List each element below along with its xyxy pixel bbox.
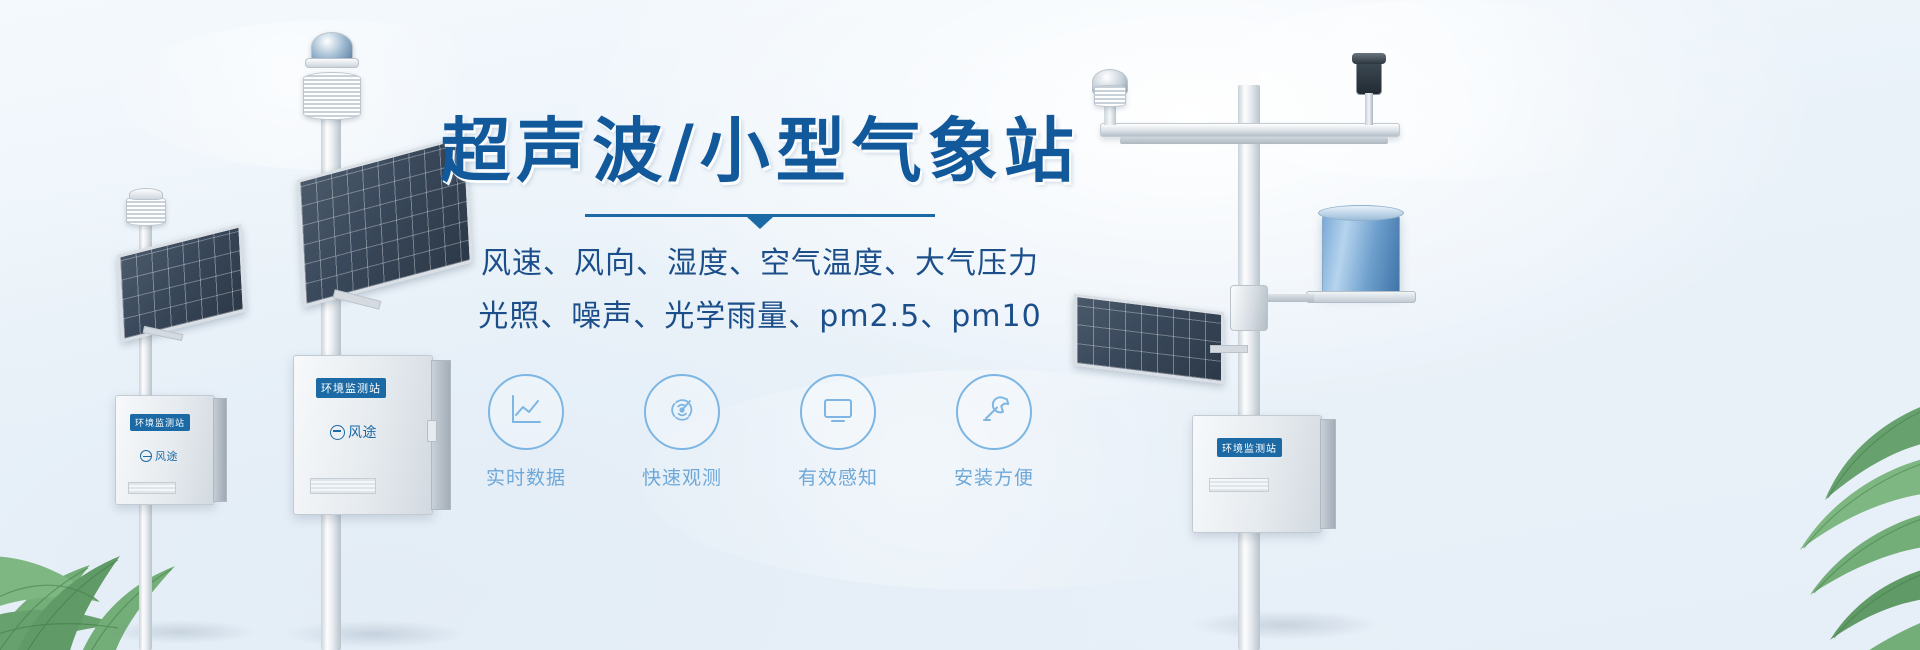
radiation-shield-sensor [303,72,361,120]
cabinet-vent [310,478,376,494]
radiation-shield-sensor [1094,85,1126,107]
equipment-cabinet: 环境监测站 风途 [115,395,215,505]
brand-name: 风途 [155,448,178,464]
feature-list: 实时数据 [440,374,1080,490]
cross-arm [1100,123,1400,137]
rain-gauge-base [1306,291,1416,303]
wrench-icon [974,390,1014,435]
feature-icon-circle [644,374,720,450]
shield-cap [129,188,163,200]
brand-mark-icon [140,450,152,462]
feature-icon-circle [488,374,564,450]
brand-logo: 风途 [140,448,178,464]
sensor-collar [305,58,359,68]
feature-label: 快速观测 [627,463,737,490]
feature-item-fast-observation[interactable]: 快速观测 [627,374,737,490]
feature-label: 有效感知 [783,463,893,490]
brand-mark-icon [330,425,345,440]
station-shadow [1190,610,1380,640]
brand-logo: 风途 [330,422,377,442]
cabinet-vent [128,482,176,494]
cabinet-side-panel [1320,419,1336,529]
subtitle-line-1: 风速、风向、湿度、空气温度、大气压力 [440,241,1080,288]
feature-label: 安装方便 [939,463,1049,490]
rain-gauge-rim [1318,205,1404,221]
station-mast [1238,85,1260,650]
equipment-cabinet: 环境监测站 [1192,415,1322,533]
line-chart-icon [506,390,546,435]
station-shadow [285,620,465,648]
title-divider [585,214,935,217]
noise-light-sensor [1356,61,1382,95]
cabinet-vent [1209,478,1269,492]
solar-panel [1074,294,1224,384]
solar-panel [117,224,246,342]
equipment-cabinet: 环境监测站 风途 [293,355,433,515]
radiation-shield-sensor [126,196,166,226]
mast-junction-block [1230,285,1268,331]
feature-icon-circle [800,374,876,450]
sensor-pole [1365,93,1373,125]
cabinet-label: 环境监测站 [316,378,386,398]
banner-text-block: 超声波/小型气象站 风速、风向、湿度、空气温度、大气压力 光照、噪声、光学雨量、… [440,112,1080,490]
panel-mount-arm [1210,345,1248,353]
subtitle-line-2: 光照、噪声、光学雨量、pm2.5、pm10 [440,294,1080,341]
cabinet-label: 环境监测站 [130,414,190,431]
radar-icon [662,390,702,435]
feature-item-realtime-data[interactable]: 实时数据 [471,374,581,490]
cabinet-latch [427,420,437,442]
cross-arm-lower [1120,137,1388,144]
monitor-icon [818,390,858,435]
ultrasonic-weather-station-right: 环境监测站 [1060,45,1440,650]
cabinet-label: 环境监测站 [1217,438,1282,457]
feature-icon-circle [956,374,1032,450]
tropical-leaf-right [1640,360,1920,650]
feature-item-easy-installation[interactable]: 安装方便 [939,374,1049,490]
feature-label: 实时数据 [471,463,581,490]
product-banner: 环境监测站 风途 环境监测站 风途 [0,0,1920,650]
sensor-head-cap [1352,53,1386,64]
small-weather-station-left: 环境监测站 风途 [95,180,265,650]
page-title: 超声波/小型气象站 [440,112,1080,190]
brand-name: 风途 [348,422,377,442]
cabinet-side-panel [213,398,227,502]
rain-gauge [1322,213,1400,295]
station-shadow [105,620,255,644]
feature-item-effective-sensing[interactable]: 有效感知 [783,374,893,490]
